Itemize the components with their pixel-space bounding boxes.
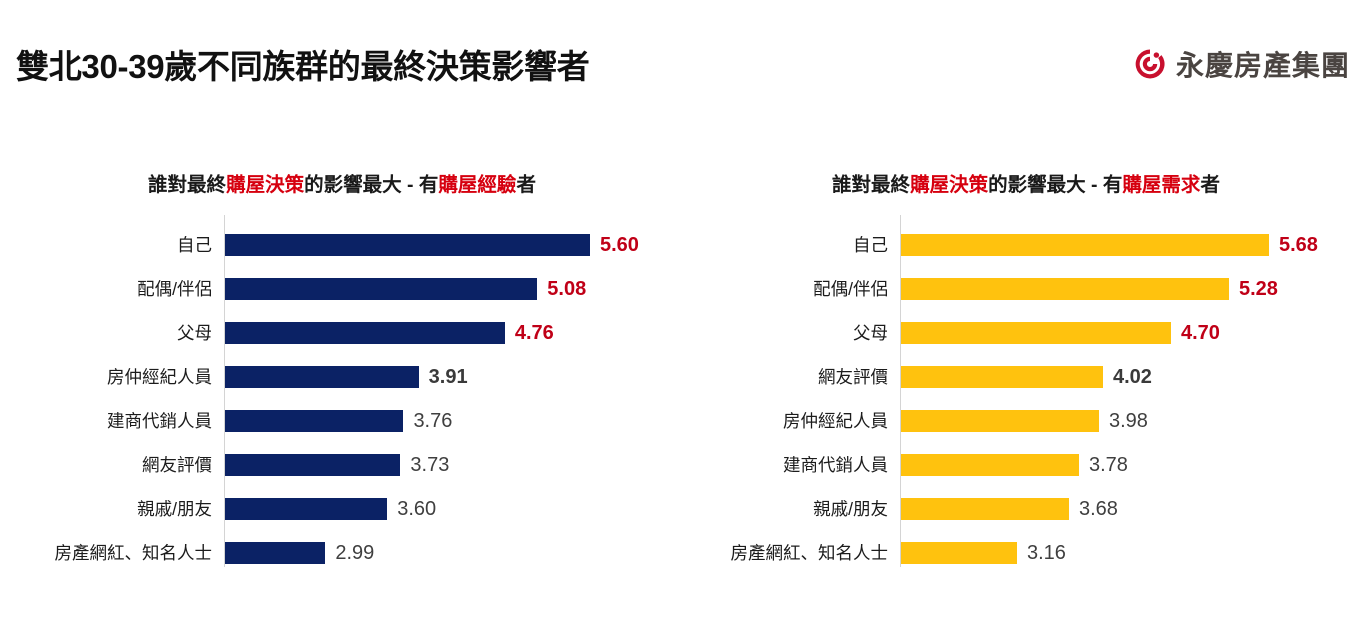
chart-title-segment-4: 者 <box>1200 174 1220 196</box>
chart-title-segment-3: 購屋需求 <box>1122 174 1200 196</box>
bar-row: 網友評價3.73 <box>0 443 684 487</box>
charts-container: 誰對最終購屋決策的影響最大 - 有購屋經驗者 自己5.60配偶/伴侶5.08父母… <box>0 120 1368 623</box>
bar-value-label: 2.99 <box>335 542 374 564</box>
chart-title-segment-0: 誰對最終 <box>832 174 910 196</box>
bar-row: 房仲經紀人員3.91 <box>0 355 684 399</box>
bar <box>901 498 1069 520</box>
bar <box>225 234 590 256</box>
brand-logo: 永慶房產集團 <box>1133 44 1350 84</box>
bar-row: 自己5.60 <box>0 223 684 267</box>
bar-value-label: 4.02 <box>1113 366 1152 388</box>
bar <box>225 322 505 344</box>
bar <box>225 366 419 388</box>
category-label: 父母 <box>0 311 212 355</box>
bar-with-value: 5.68 <box>901 223 1318 267</box>
bar-with-value: 4.76 <box>225 311 554 355</box>
plot-area-buyers-demand: 自己5.68配偶/伴侶5.28父母4.70網友評價4.02房仲經紀人員3.98建… <box>684 223 1368 573</box>
category-label: 房仲經紀人員 <box>684 399 888 443</box>
category-label: 建商代銷人員 <box>0 399 212 443</box>
category-label: 房產網紅、知名人士 <box>0 531 212 575</box>
category-label: 網友評價 <box>684 355 888 399</box>
chart-title-segment-3: 購屋經驗 <box>438 174 516 196</box>
brand-logo-text: 永慶房產集團 <box>1176 44 1350 84</box>
bar-value-label: 3.78 <box>1089 454 1128 476</box>
bar <box>225 278 537 300</box>
bar-with-value: 2.99 <box>225 531 374 575</box>
category-label: 網友評價 <box>0 443 212 487</box>
bar <box>901 454 1079 476</box>
chart-title-segment-0: 誰對最終 <box>148 174 226 196</box>
category-label: 親戚/朋友 <box>0 487 212 531</box>
bar-row: 配偶/伴侶5.08 <box>0 267 684 311</box>
bar-with-value: 4.02 <box>901 355 1152 399</box>
bar-row: 房仲經紀人員3.98 <box>684 399 1368 443</box>
bar <box>901 322 1171 344</box>
bar-value-label: 3.73 <box>410 454 449 476</box>
bar-row: 房產網紅、知名人士3.16 <box>684 531 1368 575</box>
bar-value-label: 5.08 <box>547 278 586 300</box>
bar-with-value: 3.16 <box>901 531 1066 575</box>
chart-title-segment-2: 的影響最大 - 有 <box>304 174 438 196</box>
bar-with-value: 3.98 <box>901 399 1148 443</box>
bar-row: 自己5.68 <box>684 223 1368 267</box>
bar-value-label: 5.28 <box>1239 278 1278 300</box>
bar-value-label: 4.70 <box>1181 322 1220 344</box>
bar <box>225 410 403 432</box>
target-circle-icon <box>1133 47 1167 81</box>
chart-title-segment-1: 購屋決策 <box>910 174 988 196</box>
bar-with-value: 4.70 <box>901 311 1220 355</box>
bar-row: 建商代銷人員3.78 <box>684 443 1368 487</box>
bar-with-value: 3.60 <box>225 487 436 531</box>
chart-title-buyers-experience: 誰對最終購屋決策的影響最大 - 有購屋經驗者 <box>0 168 684 197</box>
chart-title-segment-1: 購屋決策 <box>226 174 304 196</box>
bar-with-value: 3.78 <box>901 443 1128 487</box>
bar-with-value: 3.73 <box>225 443 449 487</box>
category-label: 配偶/伴侶 <box>684 267 888 311</box>
bar-row: 配偶/伴侶5.28 <box>684 267 1368 311</box>
bar-with-value: 3.68 <box>901 487 1118 531</box>
category-label: 房仲經紀人員 <box>0 355 212 399</box>
chart-panel-buyers-demand: 誰對最終購屋決策的影響最大 - 有購屋需求者 自己5.68配偶/伴侶5.28父母… <box>684 120 1368 623</box>
bar <box>901 234 1269 256</box>
bar-with-value: 5.60 <box>225 223 639 267</box>
bar-with-value: 5.08 <box>225 267 586 311</box>
category-label: 父母 <box>684 311 888 355</box>
bar-value-label: 4.76 <box>515 322 554 344</box>
page-header: 雙北30-39歲不同族群的最終決策影響者 永慶房產集團 <box>0 0 1368 120</box>
category-label: 建商代銷人員 <box>684 443 888 487</box>
bar-value-label: 3.60 <box>397 498 436 520</box>
bar-with-value: 5.28 <box>901 267 1278 311</box>
category-label: 房產網紅、知名人士 <box>684 531 888 575</box>
bar <box>225 542 325 564</box>
bar-row: 父母4.76 <box>0 311 684 355</box>
category-label: 配偶/伴侶 <box>0 267 212 311</box>
bar <box>225 454 400 476</box>
bar-value-label: 3.16 <box>1027 542 1066 564</box>
bar-value-label: 5.60 <box>600 234 639 256</box>
bar <box>225 498 387 520</box>
bar-value-label: 3.68 <box>1079 498 1118 520</box>
chart-title-segment-4: 者 <box>516 174 536 196</box>
bar-row: 親戚/朋友3.60 <box>0 487 684 531</box>
chart-panel-buyers-experience: 誰對最終購屋決策的影響最大 - 有購屋經驗者 自己5.60配偶/伴侶5.08父母… <box>0 120 684 623</box>
chart-title-buyers-demand: 誰對最終購屋決策的影響最大 - 有購屋需求者 <box>684 168 1368 197</box>
category-label: 自己 <box>684 223 888 267</box>
page-title: 雙北30-39歲不同族群的最終決策影響者 <box>16 40 589 88</box>
bar-value-label: 5.68 <box>1279 234 1318 256</box>
bar-row: 父母4.70 <box>684 311 1368 355</box>
bar-value-label: 3.91 <box>429 366 468 388</box>
bar <box>901 542 1017 564</box>
category-label: 親戚/朋友 <box>684 487 888 531</box>
bar <box>901 366 1103 388</box>
bar-value-label: 3.98 <box>1109 410 1148 432</box>
plot-area-buyers-experience: 自己5.60配偶/伴侶5.08父母4.76房仲經紀人員3.91建商代銷人員3.7… <box>0 223 684 573</box>
bar <box>901 278 1229 300</box>
bar-with-value: 3.91 <box>225 355 468 399</box>
bar-row: 網友評價4.02 <box>684 355 1368 399</box>
bar-row: 親戚/朋友3.68 <box>684 487 1368 531</box>
bar-row: 房產網紅、知名人士2.99 <box>0 531 684 575</box>
chart-title-segment-2: 的影響最大 - 有 <box>988 174 1122 196</box>
bar-row: 建商代銷人員3.76 <box>0 399 684 443</box>
bar-with-value: 3.76 <box>225 399 452 443</box>
bar-value-label: 3.76 <box>413 410 452 432</box>
category-label: 自己 <box>0 223 212 267</box>
bar <box>901 410 1099 432</box>
